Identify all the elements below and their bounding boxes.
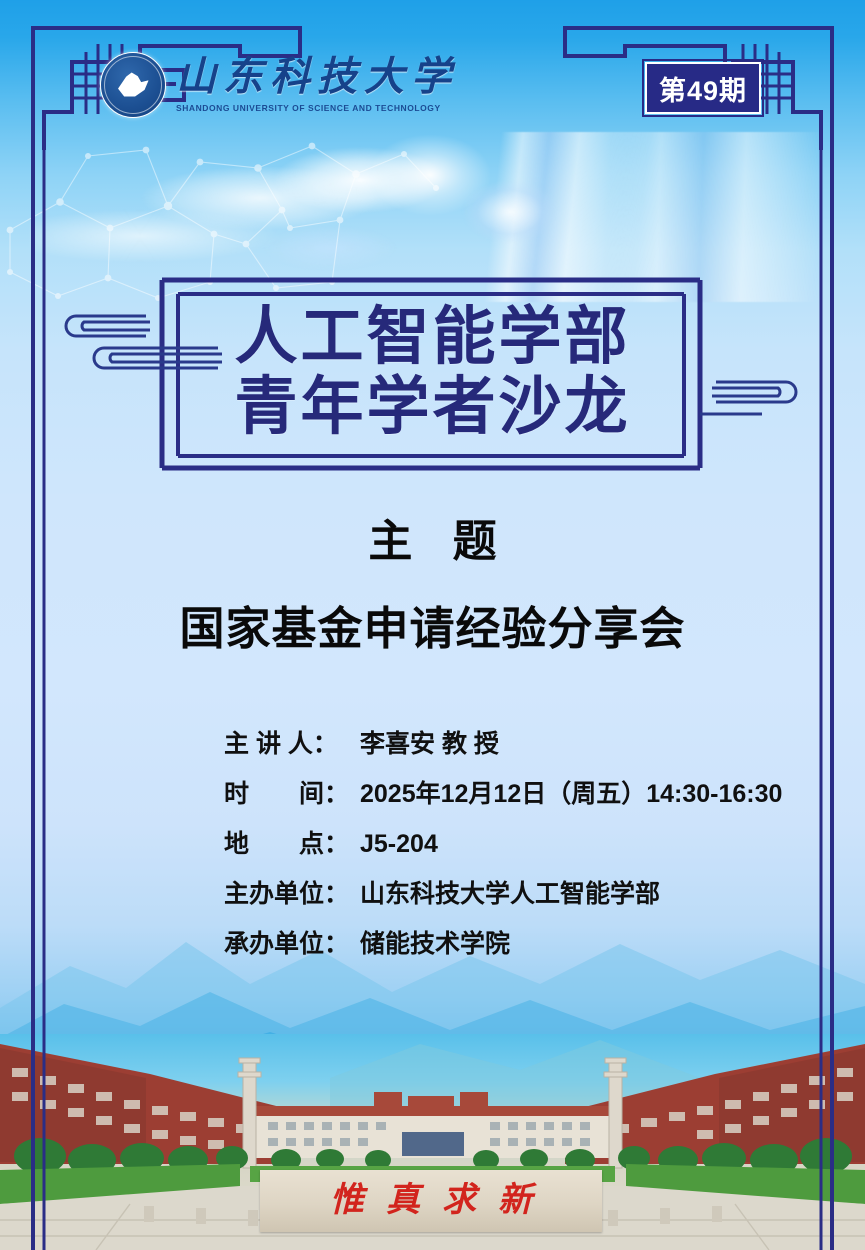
detail-key: 时 间： (224, 774, 360, 810)
detail-key: 地 点： (224, 824, 360, 860)
poster-root: 惟 真 求 新 (0, 0, 865, 1250)
monument-char: 真 (386, 1184, 420, 1218)
detail-value: 李喜安 教 授 (360, 724, 499, 760)
detail-value: J5-204 (360, 830, 438, 859)
monument-char: 新 (498, 1184, 532, 1218)
topic-label: 主 题 (0, 505, 865, 569)
detail-value: 储能技术学院 (360, 924, 510, 960)
university-name-cn: 山东科技大学 (176, 57, 458, 97)
campus-monument: 惟 真 求 新 (260, 1170, 602, 1232)
main-title-line-2: 青年学者沙龙 (235, 373, 631, 441)
detail-key: 承办单位： (224, 924, 360, 960)
detail-key: 主 讲 人： (224, 724, 360, 760)
detail-row-speaker: 主 讲 人： 李喜安 教 授 (224, 724, 824, 760)
detail-row-host: 承办单位： 储能技术学院 (224, 924, 824, 960)
detail-row-location: 地 点： J5-204 (224, 824, 824, 860)
university-name-en: SHANDONG UNIVERSITY OF SCIENCE AND TECHN… (176, 104, 458, 113)
monument-char: 惟 (330, 1184, 364, 1218)
university-emblem-icon (100, 52, 166, 118)
detail-key: 主办单位： (224, 874, 360, 910)
university-name-block: 山东科技大学 SHANDONG UNIVERSITY OF SCIENCE AN… (176, 57, 458, 113)
campus-photo: 惟 真 求 新 (0, 1034, 865, 1250)
university-logo: 山东科技大学 SHANDONG UNIVERSITY OF SCIENCE AN… (100, 52, 458, 118)
main-title-block: 人工智能学部 青年学者沙龙 (160, 272, 705, 472)
detail-value: 2025年12月12日（周五）14:30-16:30 (360, 774, 782, 810)
detail-row-organizer: 主办单位： 山东科技大学人工智能学部 (224, 874, 824, 910)
topic-title: 国家基金申请经验分享会 (0, 592, 865, 657)
detail-value: 山东科技大学人工智能学部 (360, 874, 660, 910)
issue-badge: 第49期 (645, 62, 761, 114)
main-title-text: 人工智能学部 青年学者沙龙 (160, 272, 705, 472)
monument-char: 求 (442, 1184, 476, 1218)
event-details: 主 讲 人： 李喜安 教 授 时 间： 2025年12月12日（周五）14:30… (224, 724, 824, 974)
detail-row-time: 时 间： 2025年12月12日（周五）14:30-16:30 (224, 774, 824, 810)
issue-badge-label: 第49期 (659, 69, 747, 108)
main-title-line-1: 人工智能学部 (235, 303, 631, 371)
